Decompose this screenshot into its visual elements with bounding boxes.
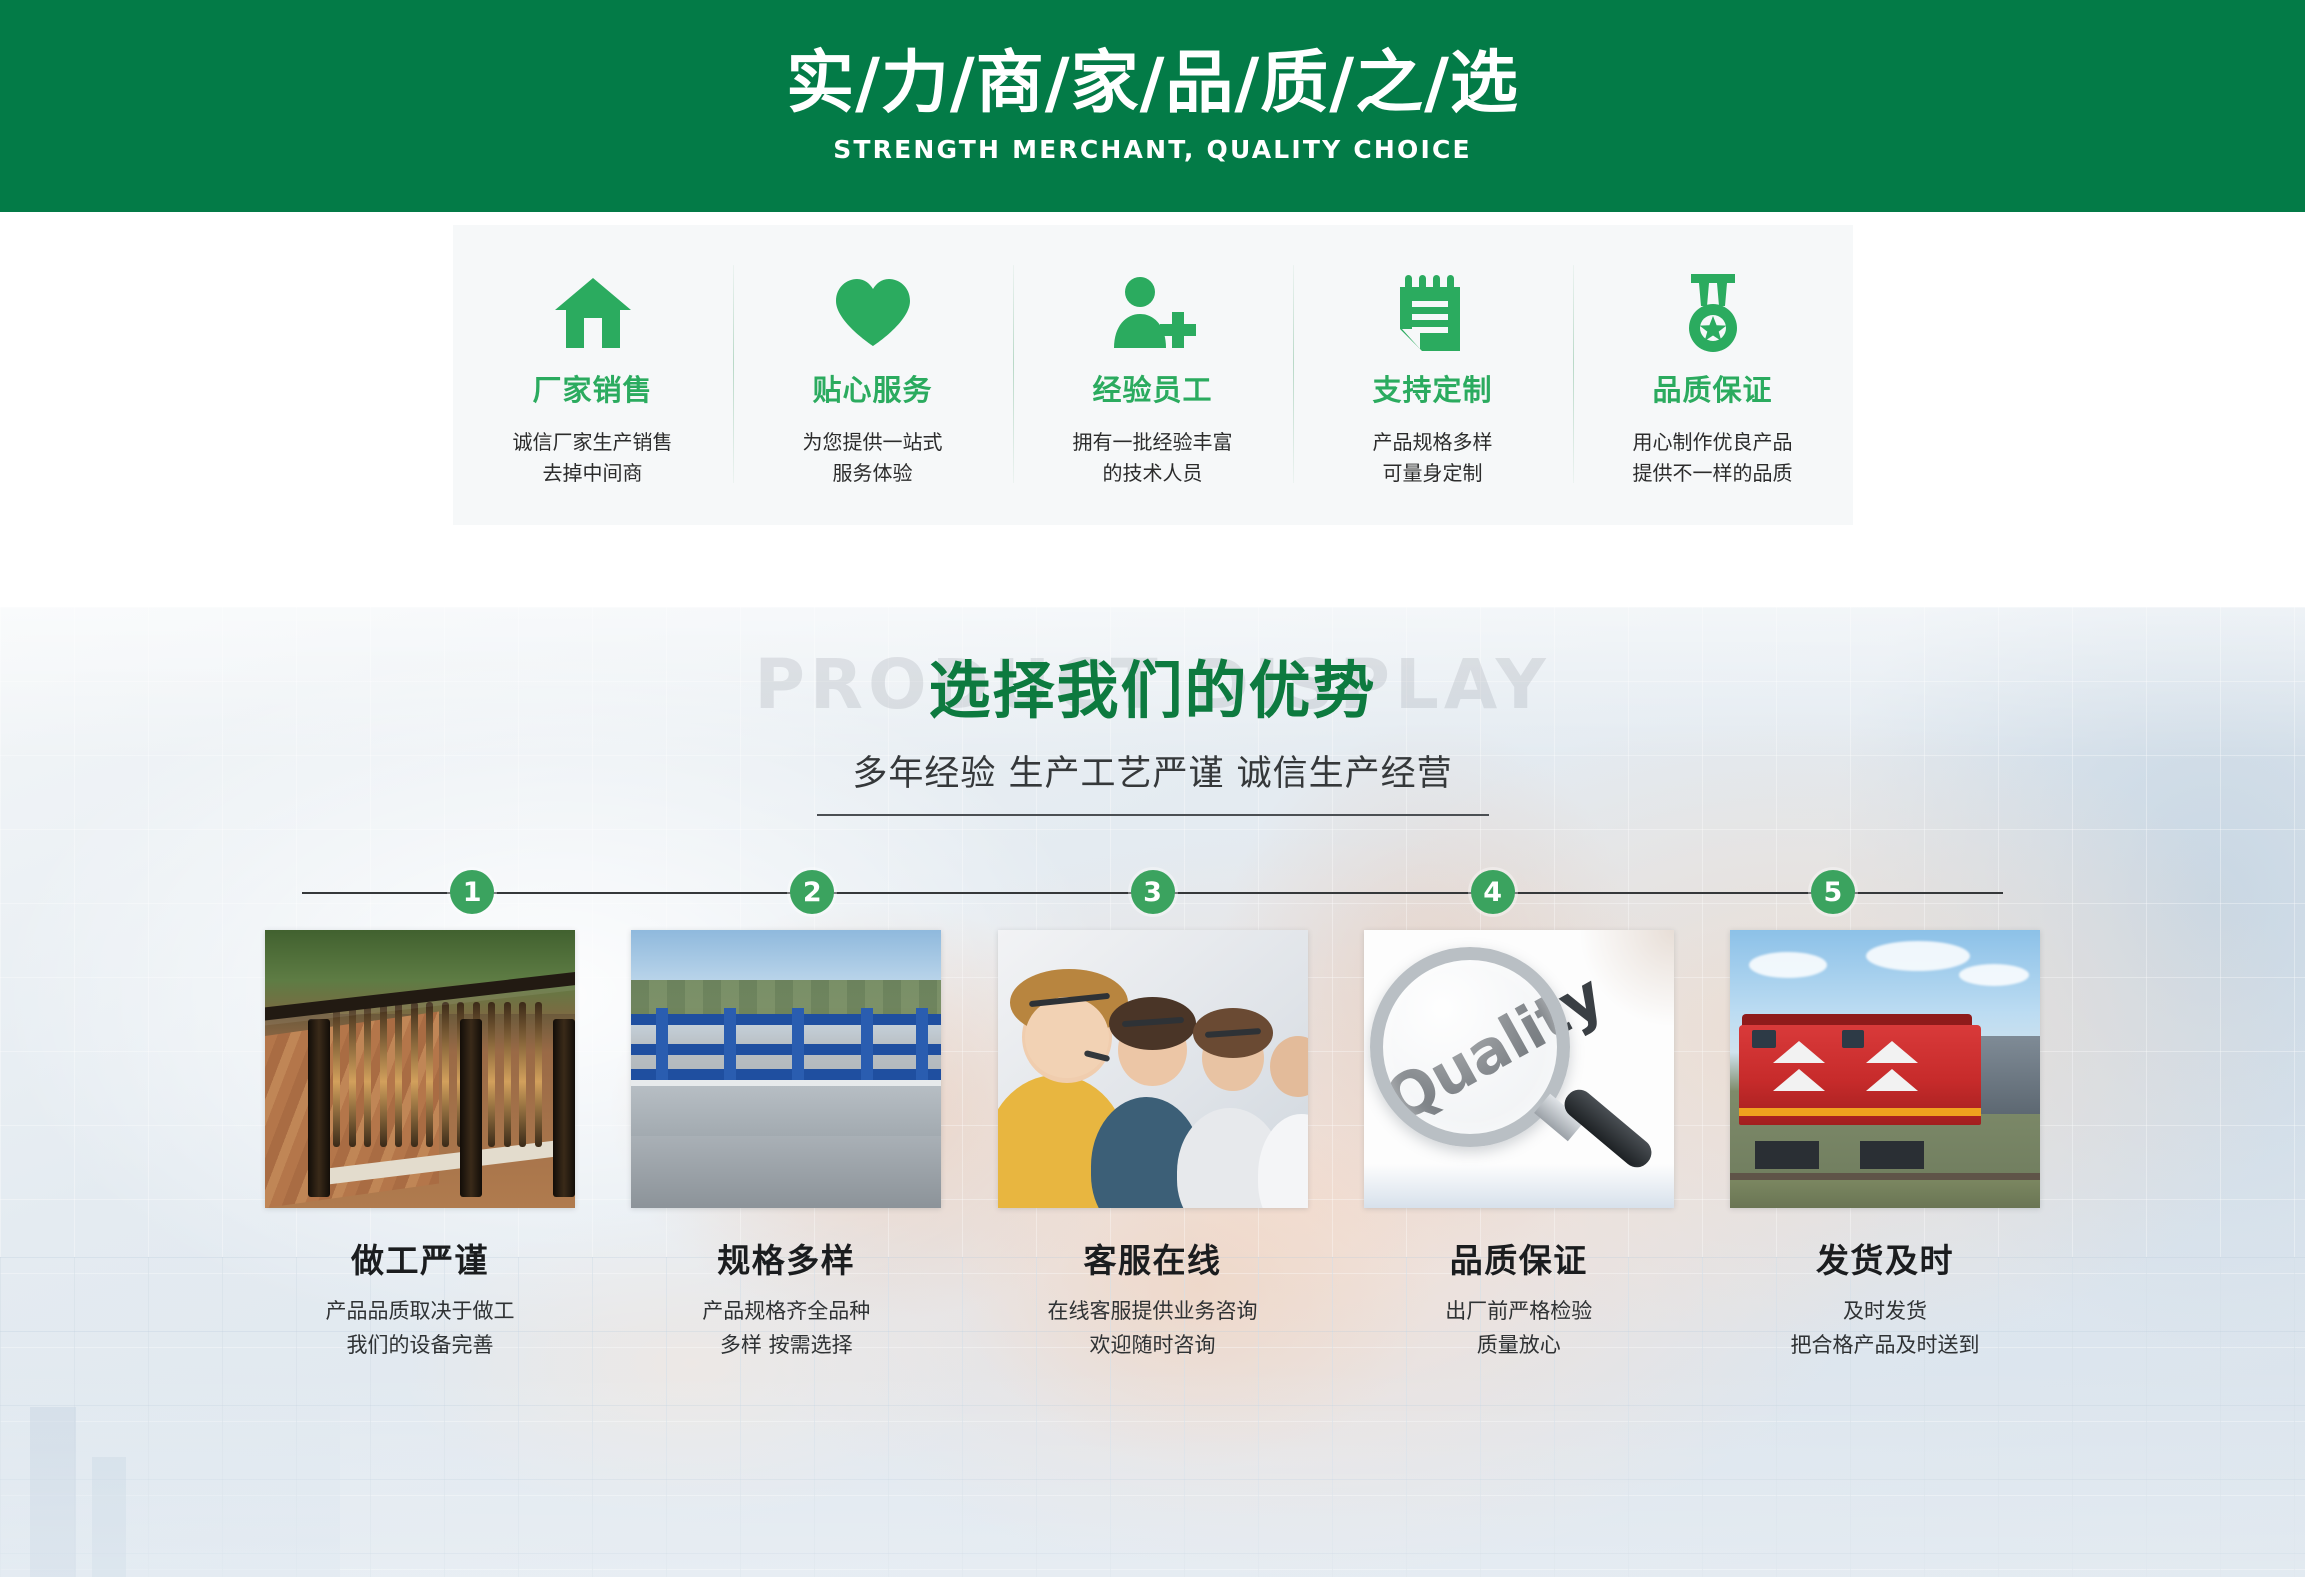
freight-train-photo xyxy=(1730,930,2040,1208)
advantage-card-title: 规格多样 xyxy=(717,1234,855,1282)
photo-blue-post xyxy=(724,1008,736,1080)
photo-post xyxy=(460,1019,482,1197)
photo-blue-post xyxy=(656,1008,668,1080)
feature-desc-line2: 提供不一样的品质 xyxy=(1633,458,1793,489)
feature-card-customization[interactable]: 支持定制 产品规格多样 可量身定制 xyxy=(1293,259,1573,491)
advantage-card-title: 客服在线 xyxy=(1084,1234,1222,1282)
advantage-card-title: 品质保证 xyxy=(1450,1234,1588,1282)
timeline-cell: 3 xyxy=(982,870,1322,914)
advantage-card-1[interactable]: 做工严谨 产品品质取决于做工 我们的设备完善 xyxy=(265,930,575,1362)
quality-magnifier-photo: Quality xyxy=(1364,930,1674,1208)
call-center-photo-art xyxy=(998,930,1308,1208)
advantage-card-desc-line1: 产品规格齐全品种 xyxy=(702,1295,870,1329)
photo-cab-window xyxy=(1752,1030,1776,1048)
page-banner: 实/力/商/家/品/质/之/选 STRENGTH MERCHANT, QUALI… xyxy=(0,0,2305,212)
timeline-cell: 2 xyxy=(642,870,982,914)
photo-chevron xyxy=(1773,1069,1825,1091)
advantage-subtitle: 多年经验 生产工艺严谨 诚信生产经营 xyxy=(0,745,2305,796)
advantage-title: 选择我们的优势 xyxy=(0,657,2305,725)
timeline-cell: 1 xyxy=(302,870,642,914)
step-badge-4[interactable]: 4 xyxy=(1471,870,1515,914)
advantage-card-desc: 出厂前严格检验 质量放心 xyxy=(1445,1295,1592,1362)
photo-bogie xyxy=(1755,1141,1819,1169)
step-badge-5[interactable]: 5 xyxy=(1811,870,1855,914)
photo-blue-post xyxy=(916,1008,928,1080)
advantage-card-4[interactable]: Quality 品质保证 出厂前严格检验 质量放心 xyxy=(1364,930,1674,1362)
photo-yellow-stripe xyxy=(1739,1108,1981,1116)
feature-desc: 诚信厂家生产销售 去掉中间商 xyxy=(513,427,673,489)
photo-chevron xyxy=(1773,1041,1825,1063)
guardrail-photo-art xyxy=(631,930,941,1208)
call-center-photo xyxy=(998,930,1308,1208)
advantage-section: PRODUCT DISPLAY 选择我们的优势 多年经验 生产工艺严谨 诚信生产… xyxy=(0,607,2305,1577)
notepad-icon xyxy=(1396,267,1470,359)
feature-card-caring-service[interactable]: 贴心服务 为您提供一站式 服务体验 xyxy=(733,259,1013,491)
advantage-card-desc-line2: 欢迎随时咨询 xyxy=(1048,1329,1258,1363)
train-photo-art xyxy=(1730,930,2040,1208)
feature-desc: 用心制作优良产品 提供不一样的品质 xyxy=(1633,427,1793,489)
photo-agent-head xyxy=(1270,1036,1307,1097)
photo-cloud xyxy=(1749,952,1827,978)
feature-card-experienced-staff[interactable]: 经验员工 拥有一批经验丰富 的技术人员 xyxy=(1013,259,1293,491)
advantage-card-desc-line2: 质量放心 xyxy=(1445,1329,1592,1363)
photo-blue-rail-mid xyxy=(631,1044,941,1055)
advantage-heading-block: PRODUCT DISPLAY 选择我们的优势 多年经验 生产工艺严谨 诚信生产… xyxy=(0,607,2305,816)
feature-desc-line2: 去掉中间商 xyxy=(513,458,673,489)
banner-title: 实/力/商/家/品/质/之/选 xyxy=(786,48,1519,119)
advantage-card-desc-line1: 及时发货 xyxy=(1791,1295,1980,1329)
advantage-divider xyxy=(817,814,1489,816)
heart-icon xyxy=(832,267,914,359)
features-section: 厂家销售 诚信厂家生产销售 去掉中间商 贴心服务 为您提供一站式 服务体验 xyxy=(0,212,2305,607)
photo-blue-post xyxy=(792,1008,804,1080)
feature-title: 品质保证 xyxy=(1652,367,1772,409)
photo-cloud xyxy=(1959,964,2029,986)
timeline-badges: 1 2 3 4 5 xyxy=(302,870,2003,914)
railing-photo-art xyxy=(265,930,575,1208)
feature-desc: 产品规格多样 可量身定制 xyxy=(1373,427,1493,489)
feature-card-quality-guarantee[interactable]: 品质保证 用心制作优良产品 提供不一样的品质 xyxy=(1573,259,1853,491)
photo-bogie xyxy=(1860,1141,1924,1169)
banner-subtitle: STRENGTH MERCHANT, QUALITY CHOICE xyxy=(833,135,1472,164)
feature-desc-line1: 用心制作优良产品 xyxy=(1633,427,1793,458)
photo-cloud xyxy=(1866,941,1970,971)
feature-desc-line2: 的技术人员 xyxy=(1073,458,1233,489)
advantage-card-title: 发货及时 xyxy=(1816,1234,1954,1282)
step-badge-2[interactable]: 2 xyxy=(790,870,834,914)
advantage-card-desc-line1: 产品品质取决于做工 xyxy=(326,1295,515,1329)
advantage-card-desc-line2: 我们的设备完善 xyxy=(326,1329,515,1363)
feature-desc: 为您提供一站式 服务体验 xyxy=(803,427,943,489)
bridge-railing-photo xyxy=(265,930,575,1208)
photo-blue-post xyxy=(861,1008,873,1080)
photo-blue-rail-low xyxy=(631,1069,941,1080)
photo-chevron xyxy=(1866,1069,1918,1091)
photo-chevron xyxy=(1866,1041,1918,1063)
house-icon xyxy=(552,267,634,359)
feature-title: 支持定制 xyxy=(1372,367,1492,409)
timeline-cell: 4 xyxy=(1323,870,1663,914)
advantage-card-desc: 产品品质取决于做工 我们的设备完善 xyxy=(326,1295,515,1362)
photo-cool-tint xyxy=(1364,1164,1674,1208)
feature-desc-line2: 服务体验 xyxy=(803,458,943,489)
photo-rail-track xyxy=(1730,1173,2040,1180)
advantage-card-title: 做工严谨 xyxy=(351,1234,489,1282)
advantage-card-3[interactable]: 客服在线 在线客服提供业务咨询 欢迎随时咨询 xyxy=(998,930,1308,1362)
feature-desc-line2: 可量身定制 xyxy=(1373,458,1493,489)
feature-desc-line1: 产品规格多样 xyxy=(1373,427,1493,458)
photo-post xyxy=(308,1019,330,1197)
timeline-cell: 5 xyxy=(1663,870,2003,914)
step-badge-3[interactable]: 3 xyxy=(1131,870,1175,914)
photo-post xyxy=(553,1019,575,1197)
feature-title: 厂家销售 xyxy=(532,367,652,409)
advantage-cards: 做工严谨 产品品质取决于做工 我们的设备完善 xyxy=(265,930,2040,1362)
magnifier-photo-art: Quality xyxy=(1364,930,1674,1208)
advantage-card-desc: 及时发货 把合格产品及时送到 xyxy=(1791,1295,1980,1362)
feature-desc-line1: 诚信厂家生产销售 xyxy=(513,427,673,458)
feature-desc-line1: 拥有一批经验丰富 xyxy=(1073,427,1233,458)
photo-agent-face xyxy=(1025,997,1109,1078)
feature-card-factory-sales[interactable]: 厂家销售 诚信厂家生产销售 去掉中间商 xyxy=(453,259,733,491)
advantage-card-desc-line1: 出厂前严格检验 xyxy=(1445,1295,1592,1329)
feature-title: 经验员工 xyxy=(1092,367,1212,409)
advantage-card-desc-line1: 在线客服提供业务咨询 xyxy=(1048,1295,1258,1329)
steps-timeline: 1 2 3 4 5 xyxy=(302,870,2003,914)
advantage-card-2[interactable]: 规格多样 产品规格齐全品种 多样 按需选择 xyxy=(631,930,941,1362)
advantage-card-desc: 产品规格齐全品种 多样 按需选择 xyxy=(702,1295,870,1362)
medal-icon xyxy=(1677,267,1749,359)
advantage-card-desc: 在线客服提供业务咨询 欢迎随时咨询 xyxy=(1048,1295,1258,1362)
feature-title: 贴心服务 xyxy=(812,367,932,409)
highway-guardrail-photo xyxy=(631,930,941,1208)
photo-blue-rail-top xyxy=(631,1014,941,1025)
user-plus-icon xyxy=(1110,267,1196,359)
advantage-card-desc-line2: 把合格产品及时送到 xyxy=(1791,1329,1980,1363)
advantage-card-5[interactable]: 发货及时 及时发货 把合格产品及时送到 xyxy=(1730,930,2040,1362)
step-badge-1[interactable]: 1 xyxy=(450,870,494,914)
photo-warm-tint xyxy=(1581,930,1674,1025)
photo-cab-window xyxy=(1842,1030,1864,1048)
feature-desc-line1: 为您提供一站式 xyxy=(803,427,943,458)
features-panel: 厂家销售 诚信厂家生产销售 去掉中间商 贴心服务 为您提供一站式 服务体验 xyxy=(453,225,1853,525)
feature-desc: 拥有一批经验丰富 的技术人员 xyxy=(1073,427,1233,489)
advantage-card-desc-line2: 多样 按需选择 xyxy=(702,1329,870,1363)
photo-roadway xyxy=(631,1136,941,1208)
